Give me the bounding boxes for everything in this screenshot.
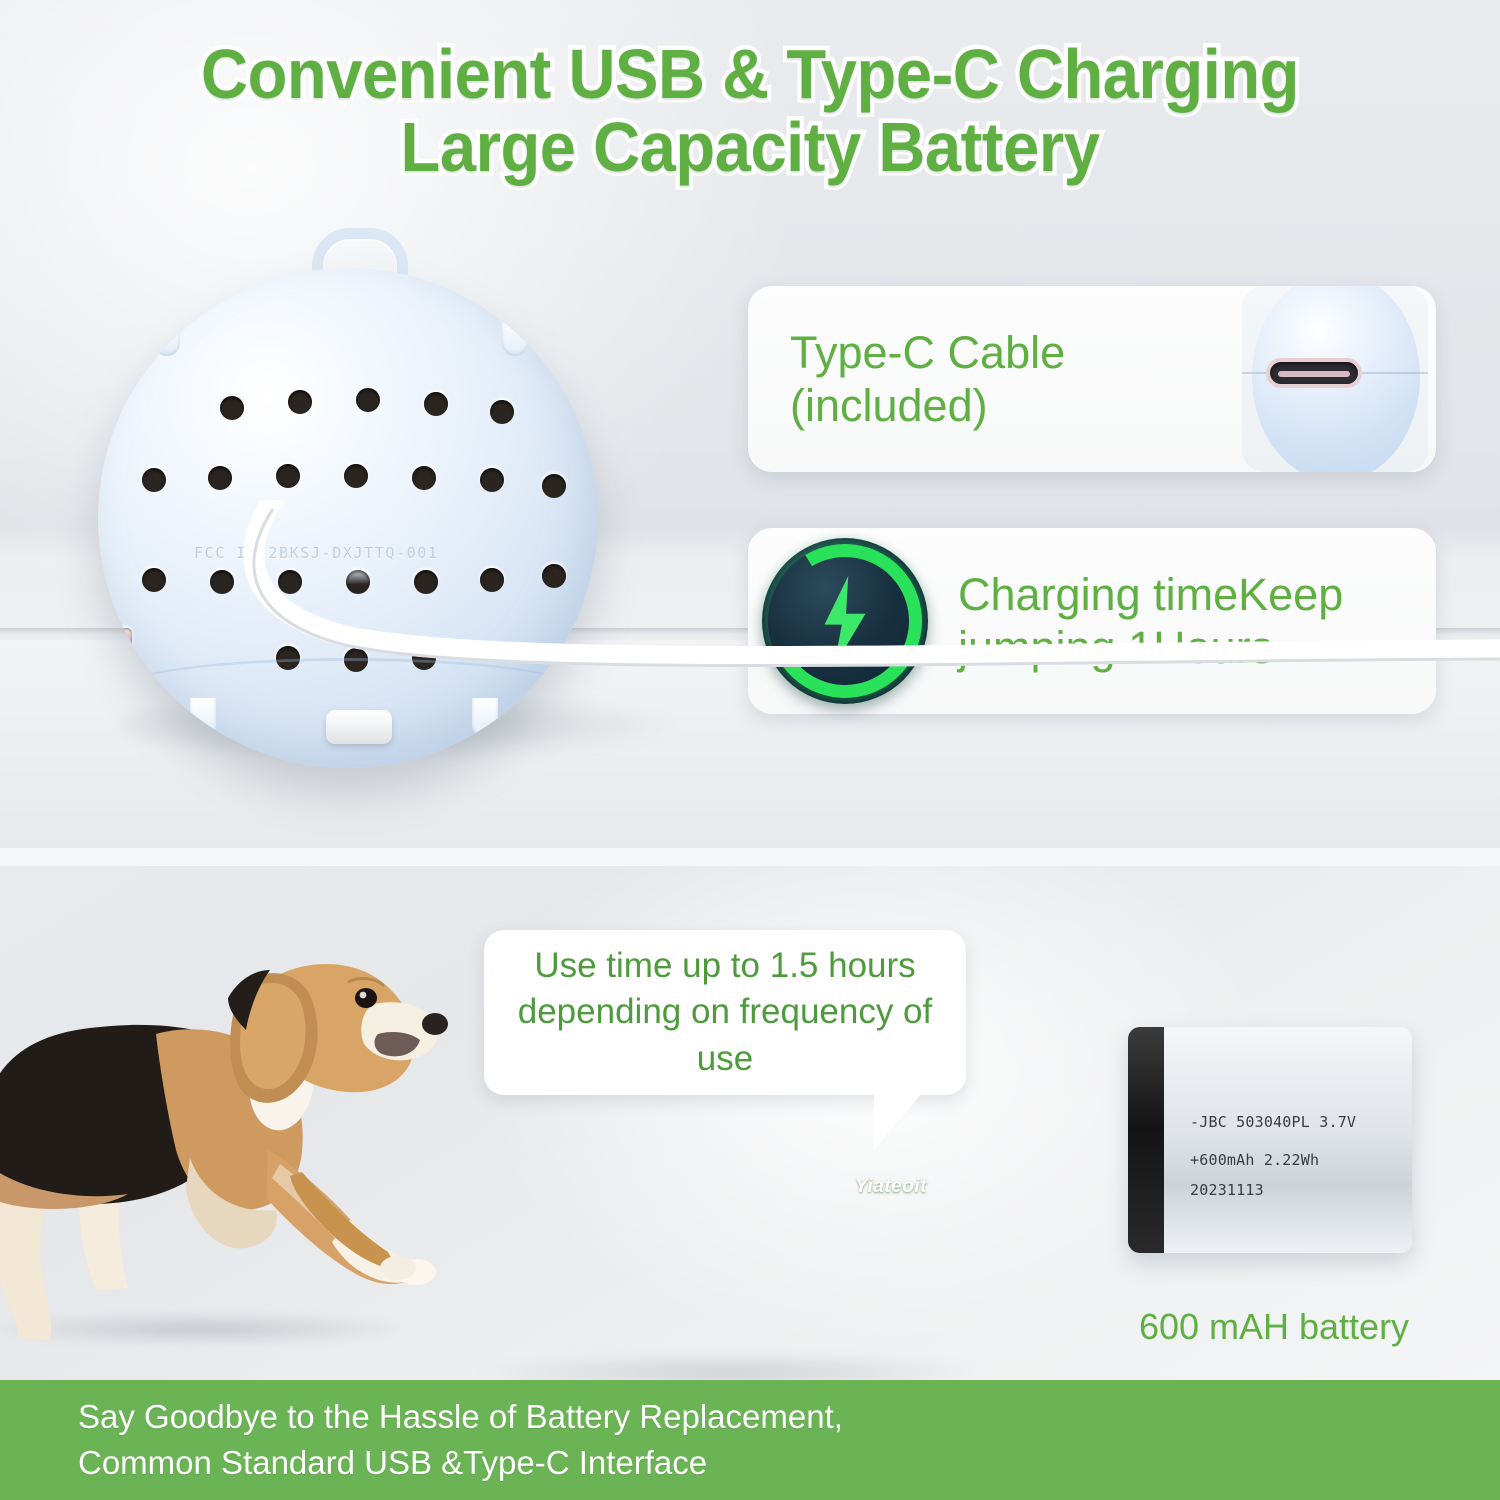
battery-tab (1128, 1027, 1164, 1253)
vent-hole (220, 396, 244, 420)
headline-line-2: Large Capacity Battery (53, 111, 1448, 184)
bottom-banner: Say Goodbye to the Hassle of Battery Rep… (0, 1380, 1500, 1500)
vent-hole (424, 392, 448, 416)
panel-divider (0, 848, 1500, 866)
battery-caption: 600 mAH battery (1084, 1306, 1464, 1348)
vent-hole (344, 464, 368, 488)
banner-text: Say Goodbye to the Hassle of Battery Rep… (0, 1394, 843, 1485)
type-c-cable-label: Type-C Cable (included) (748, 326, 1065, 432)
headline-line-1: Convenient USB & Type-C Charging (201, 35, 1299, 113)
charging-cable (85, 500, 1500, 680)
vent-hole (288, 390, 312, 414)
vent-hole (208, 466, 232, 490)
usb-c-plug (326, 710, 392, 744)
vent-hole (142, 468, 166, 492)
product-infographic: Convenient USB & Type-C Charging Large C… (0, 0, 1500, 1500)
battery-label-line-1: -JBC 503040PL 3.7V (1190, 1107, 1400, 1137)
page-title: Convenient USB & Type-C Charging Large C… (53, 38, 1448, 184)
speech-bubble-text: Use time up to 1.5 hours depending on fr… (484, 943, 966, 1082)
vent-hole (480, 468, 504, 492)
vent-hole (490, 400, 514, 424)
lithium-battery-image: -JBC 503040PL 3.7V +600mAh 2.22Wh 202311… (1128, 1027, 1412, 1253)
vent-notch-icon (154, 316, 180, 356)
beagle-dog-image (0, 866, 500, 1358)
speech-bubble: Use time up to 1.5 hours depending on fr… (484, 930, 966, 1095)
battery-label-line-2: +600mAh 2.22Wh 20231113 (1190, 1145, 1400, 1205)
vent-hole (356, 388, 380, 412)
usb-c-port-photo (1242, 286, 1428, 472)
vent-hole (276, 464, 300, 488)
speech-bubble-tail (874, 1088, 926, 1150)
vent-hole (412, 466, 436, 490)
type-c-cable-card[interactable]: Type-C Cable (included) (748, 286, 1436, 472)
usb-c-port-icon (1266, 358, 1362, 388)
top-panel: Convenient USB & Type-C Charging Large C… (0, 0, 1500, 848)
vent-hole (542, 474, 566, 498)
vent-notch-icon (502, 316, 528, 356)
